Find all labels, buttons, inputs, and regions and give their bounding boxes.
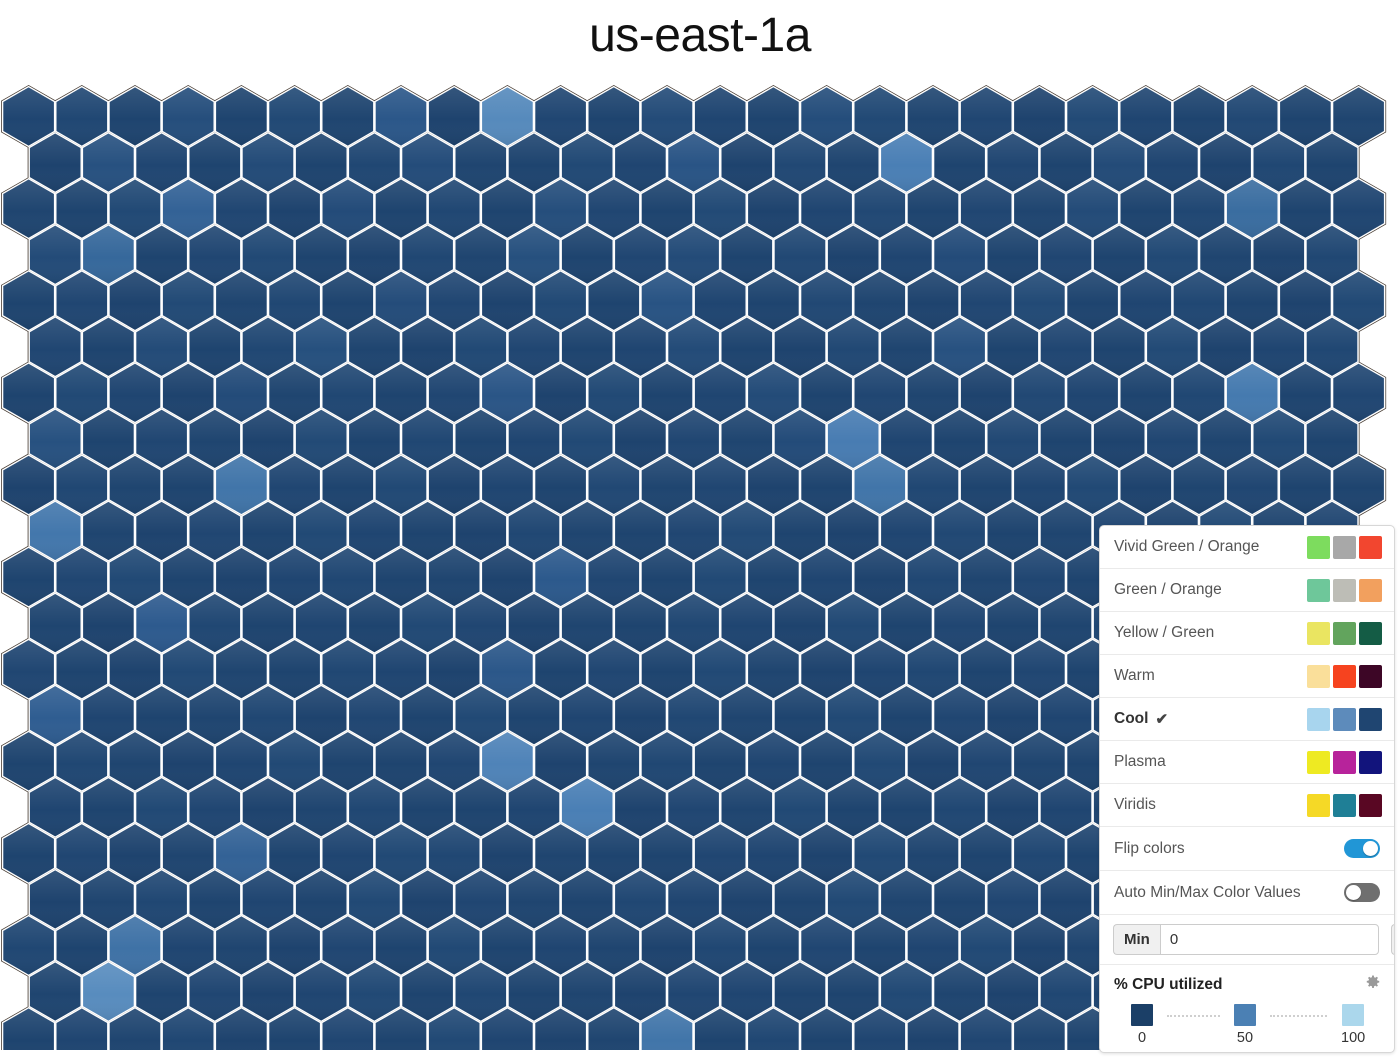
colormap-option-green-orange[interactable]: Green / Orange	[1100, 569, 1394, 612]
color-swatch	[1333, 751, 1356, 774]
page-title: us-east-1a	[0, 0, 1400, 72]
colormap-scheme-list[interactable]: Vivid Green / OrangeGreen / OrangeYellow…	[1100, 526, 1394, 827]
color-swatch	[1333, 622, 1356, 645]
colormap-swatches	[1307, 665, 1382, 688]
legend-scale: 050100	[1114, 1004, 1380, 1050]
flip-colors-label: Flip colors	[1114, 840, 1344, 858]
min-field-group[interactable]: Min	[1113, 924, 1379, 955]
color-swatch	[1333, 536, 1356, 559]
color-swatch	[1359, 579, 1382, 602]
legend-tick-value: 0	[1138, 1030, 1146, 1046]
colormap-option-viridis[interactable]: Viridis	[1100, 784, 1394, 827]
flip-colors-toggle-knob	[1363, 841, 1378, 856]
minmax-row[interactable]: Min Max	[1100, 915, 1394, 965]
color-swatch	[1307, 665, 1330, 688]
check-icon: ✔	[1155, 712, 1168, 727]
colormap-option-label: Green / Orange	[1114, 581, 1307, 599]
legend-chip	[1234, 1004, 1256, 1026]
color-swatch	[1333, 708, 1356, 731]
colormap-option-label: Yellow / Green	[1114, 624, 1307, 642]
legend-stop: 100	[1341, 1004, 1365, 1046]
legend-chip	[1342, 1004, 1364, 1026]
legend-title: % CPU utilized	[1114, 976, 1380, 994]
legend-stop: 50	[1234, 1004, 1256, 1046]
colormap-option-label: Viridis	[1114, 796, 1307, 814]
color-swatch	[1307, 751, 1330, 774]
colormap-swatches	[1307, 708, 1382, 731]
max-field-group[interactable]: Max	[1391, 924, 1395, 955]
colormap-option-yellow-green[interactable]: Yellow / Green	[1100, 612, 1394, 655]
legend-dash	[1270, 1015, 1327, 1017]
flip-colors-toggle[interactable]	[1344, 839, 1380, 858]
colormap-swatches	[1307, 751, 1382, 774]
color-swatch	[1307, 579, 1330, 602]
color-swatch	[1307, 536, 1330, 559]
color-swatch	[1307, 708, 1330, 731]
max-label: Max	[1391, 924, 1395, 955]
colormap-option-plasma[interactable]: Plasma	[1100, 741, 1394, 784]
min-label: Min	[1113, 924, 1160, 955]
colormap-option-label: Cool✔	[1114, 710, 1307, 728]
color-swatch	[1307, 794, 1330, 817]
color-swatch	[1333, 794, 1356, 817]
colormap-option-cool[interactable]: Cool✔	[1100, 698, 1394, 741]
flip-colors-row[interactable]: Flip colors	[1100, 827, 1394, 871]
colormap-option-label: Vivid Green / Orange	[1114, 538, 1307, 556]
color-swatch	[1333, 579, 1356, 602]
legend-dash	[1167, 1015, 1220, 1017]
legend-chip	[1131, 1004, 1153, 1026]
color-swatch	[1333, 665, 1356, 688]
colormap-swatches	[1307, 579, 1382, 602]
legend-tick-value: 100	[1341, 1030, 1365, 1046]
colormap-swatches	[1307, 536, 1382, 559]
color-swatch	[1359, 708, 1382, 731]
colormap-option-label: Warm	[1114, 667, 1307, 685]
legend-block: % CPU utilized 050100	[1100, 965, 1394, 1050]
legend-tick-value: 50	[1237, 1030, 1253, 1046]
color-swatch	[1359, 665, 1382, 688]
auto-minmax-row[interactable]: Auto Min/Max Color Values	[1100, 871, 1394, 915]
color-swatch	[1359, 751, 1382, 774]
auto-minmax-toggle-knob	[1346, 885, 1361, 900]
colormap-option-label: Plasma	[1114, 753, 1307, 771]
color-swatch	[1359, 536, 1382, 559]
color-swatch	[1359, 622, 1382, 645]
color-swatch	[1359, 794, 1382, 817]
colormap-swatches	[1307, 622, 1382, 645]
colormap-option-warm[interactable]: Warm	[1100, 655, 1394, 698]
color-swatch	[1307, 622, 1330, 645]
legend-stop: 0	[1131, 1004, 1153, 1046]
colormap-option-vivid-green-orange[interactable]: Vivid Green / Orange	[1100, 526, 1394, 569]
min-input[interactable]	[1160, 924, 1379, 955]
gear-icon[interactable]	[1364, 974, 1382, 992]
colormap-swatches	[1307, 794, 1382, 817]
auto-minmax-label: Auto Min/Max Color Values	[1114, 884, 1344, 902]
auto-minmax-toggle[interactable]	[1344, 883, 1380, 902]
color-settings-panel[interactable]: Vivid Green / OrangeGreen / OrangeYellow…	[1099, 525, 1395, 1053]
